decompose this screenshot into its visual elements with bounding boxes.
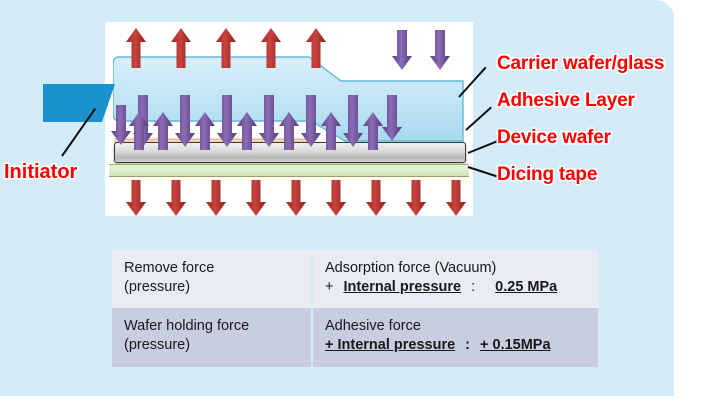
row0-label-line2: (pressure) bbox=[124, 278, 299, 297]
label-dicing-tape: Dicing tape bbox=[497, 164, 597, 186]
purple-initiator-arrow bbox=[111, 105, 131, 145]
row0-value-line1: Adsorption force (Vacuum) bbox=[325, 259, 586, 278]
table-cell-label: Wafer holding force (pressure) bbox=[111, 308, 312, 366]
row0-colon: : bbox=[471, 279, 475, 295]
red-down-arrow bbox=[245, 180, 267, 216]
red-up-arrow bbox=[125, 28, 147, 68]
red-down-arrow bbox=[125, 180, 147, 216]
purple-down-arrow bbox=[382, 95, 402, 141]
red-down-arrow bbox=[445, 180, 467, 216]
table-row: Remove force (pressure) Adsorption force… bbox=[111, 250, 599, 308]
diagram-canvas bbox=[105, 22, 473, 216]
purple-up-arrow bbox=[321, 112, 341, 150]
purple-up-arrow bbox=[363, 112, 383, 150]
purple-down-arrow bbox=[259, 95, 279, 147]
red-up-arrow bbox=[215, 28, 237, 68]
purple-up-arrow bbox=[129, 112, 149, 150]
purple-up-arrow bbox=[237, 112, 257, 150]
red-up-arrow bbox=[305, 28, 327, 68]
row0-underlined: Internal pressure bbox=[343, 279, 461, 295]
label-device-wafer: Device wafer bbox=[497, 127, 611, 149]
row1-amount: + 0.15MPa bbox=[480, 337, 551, 353]
purple-up-arrow bbox=[153, 112, 173, 150]
red-down-arrow bbox=[365, 180, 387, 216]
purple-down-arrow bbox=[301, 95, 321, 147]
slide-panel: Initiator Carrier wafer/glass Adhesive L… bbox=[0, 0, 674, 396]
row1-value-line1: Adhesive force bbox=[325, 317, 586, 336]
purple-up-arrow bbox=[195, 112, 215, 150]
row1-label-line2: (pressure) bbox=[124, 336, 299, 355]
purple-down-arrow bbox=[430, 30, 450, 70]
dicing-tape-layer bbox=[109, 164, 469, 177]
red-down-arrow bbox=[285, 180, 307, 216]
force-table: Remove force (pressure) Adsorption force… bbox=[110, 250, 600, 367]
initiator-label: Initiator bbox=[4, 161, 77, 184]
purple-up-arrow bbox=[279, 112, 299, 150]
row0-plus: + bbox=[325, 279, 333, 295]
table-cell-label: Remove force (pressure) bbox=[111, 250, 312, 308]
row1-underlined: Internal pressure bbox=[338, 337, 456, 353]
row0-value-line2: +Internal pressure:0.25 MPa bbox=[325, 278, 586, 297]
purple-down-arrow bbox=[217, 95, 237, 147]
purple-down-arrow bbox=[175, 95, 195, 147]
red-up-arrow bbox=[260, 28, 282, 68]
red-down-arrow bbox=[405, 180, 427, 216]
red-down-arrow bbox=[165, 180, 187, 216]
label-adhesive-layer: Adhesive Layer bbox=[497, 90, 635, 112]
table-cell-value: Adhesive force + Internal pressure:+ 0.1… bbox=[312, 308, 599, 366]
row1-value-line2: + Internal pressure:+ 0.15MPa bbox=[325, 336, 586, 355]
red-up-arrow bbox=[170, 28, 192, 68]
label-carrier-wafer: Carrier wafer/glass bbox=[497, 53, 664, 75]
red-down-arrow bbox=[205, 180, 227, 216]
table-cell-value: Adsorption force (Vacuum) +Internal pres… bbox=[312, 250, 599, 308]
purple-down-arrow bbox=[343, 95, 363, 147]
purple-down-arrow bbox=[392, 30, 412, 70]
table-row: Wafer holding force (pressure) Adhesive … bbox=[111, 308, 599, 366]
row1-label-line1: Wafer holding force bbox=[124, 317, 299, 336]
row1-colon: : bbox=[465, 337, 470, 353]
row0-label-line1: Remove force bbox=[124, 259, 299, 278]
red-down-arrow bbox=[325, 180, 347, 216]
row0-amount: 0.25 MPa bbox=[495, 279, 557, 295]
